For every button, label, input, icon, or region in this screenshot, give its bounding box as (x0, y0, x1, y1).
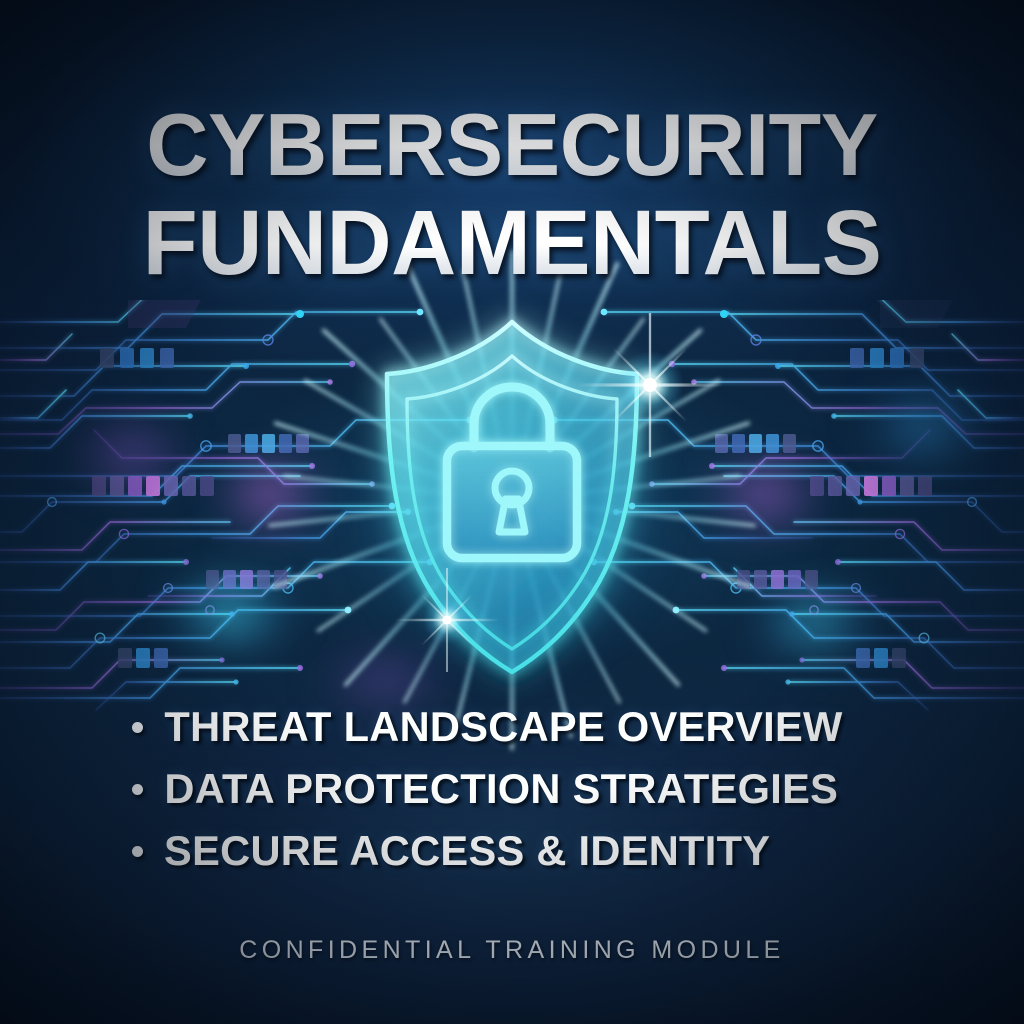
list-item-label: THREAT LANDSCAPE OVERVIEW (164, 702, 842, 752)
topic-list: THREAT LANDSCAPE OVERVIEW DATA PROTECTIO… (0, 700, 1024, 886)
page-title: CYBERSECURITY FUNDAMENTALS (0, 96, 1024, 292)
footer-label: CONFIDENTIAL TRAINING MODULE (239, 936, 784, 964)
list-item: THREAT LANDSCAPE OVERVIEW (0, 700, 1024, 754)
title-line-2: FUNDAMENTALS (10, 194, 1014, 292)
bullet-dot-icon (132, 784, 143, 795)
poster-canvas: CYBERSECURITY FUNDAMENTALS THREAT LANDSC… (0, 0, 1024, 1024)
title-line-1: CYBERSECURITY (10, 96, 1014, 194)
list-item: SECURE ACCESS & IDENTITY (0, 824, 1024, 878)
list-item: DATA PROTECTION STRATEGIES (0, 762, 1024, 816)
footer: CONFIDENTIAL TRAINING MODULE (0, 936, 1024, 965)
list-item-label: DATA PROTECTION STRATEGIES (164, 764, 838, 814)
shield-lock-emblem (337, 300, 687, 700)
bullet-dot-icon (132, 846, 143, 857)
list-item-label: SECURE ACCESS & IDENTITY (164, 826, 770, 876)
bullet-dot-icon (132, 722, 143, 733)
